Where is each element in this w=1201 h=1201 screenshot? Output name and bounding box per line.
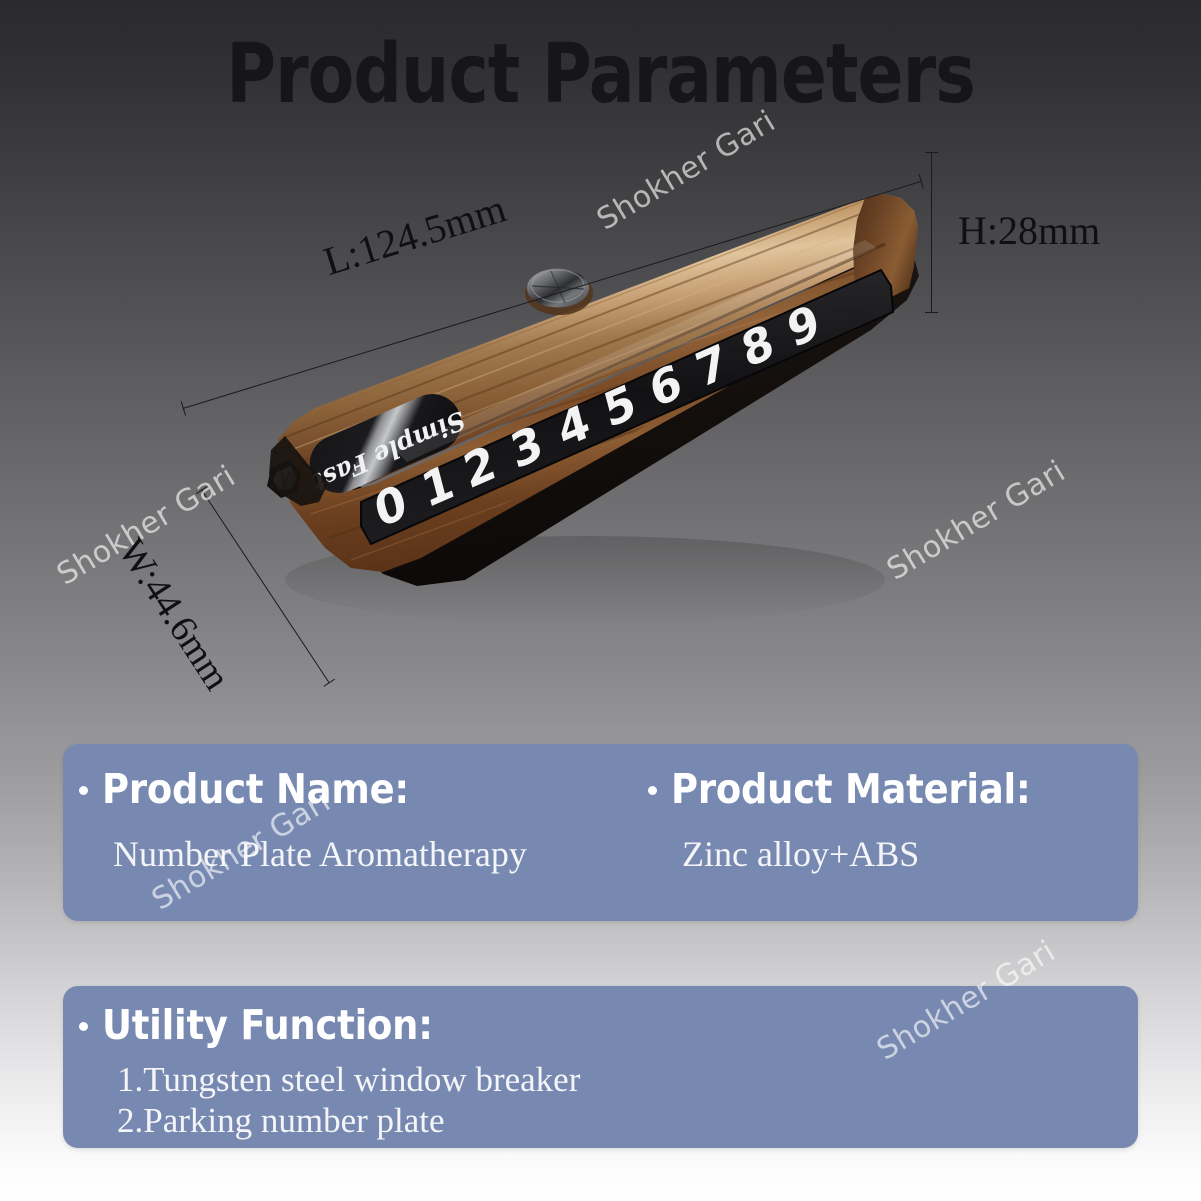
bullet-icon — [79, 1022, 88, 1031]
utility-function-heading: Utility Function: — [79, 1004, 1119, 1047]
product-illustration: 0 1 2 3 4 5 6 7 8 9 — [165, 150, 955, 640]
product-svg: 0 1 2 3 4 5 6 7 8 9 — [165, 150, 955, 640]
spec-utility-function: Utility Function: 1.Tungsten steel windo… — [79, 986, 1119, 1148]
dimension-label-height: H:28mm — [958, 207, 1100, 254]
utility-function-heading-label: Utility Function: — [102, 1004, 433, 1047]
utility-item-2: 2.Parking number plate — [117, 1100, 1119, 1141]
product-material-heading: Product Material: — [648, 768, 1128, 811]
spec-product-name: Product Name: Number Plate Aromatherapy — [79, 744, 654, 921]
infographic-stage: Product Parameters — [0, 0, 1201, 1201]
product-material-heading-label: Product Material: — [671, 768, 1031, 811]
product-name-heading-label: Product Name: — [102, 768, 409, 811]
product-material-value: Zinc alloy+ABS — [682, 833, 1128, 875]
utility-item-1: 1.Tungsten steel window breaker — [117, 1059, 1119, 1100]
bullet-icon — [79, 786, 88, 795]
spec-panel-primary: Product Name: Number Plate Aromatherapy … — [63, 744, 1138, 921]
spec-product-material: Product Material: Zinc alloy+ABS — [648, 744, 1128, 921]
product-name-value: Number Plate Aromatherapy — [113, 833, 654, 875]
utility-function-list: 1.Tungsten steel window breaker 2.Parkin… — [117, 1059, 1119, 1142]
page-title: Product Parameters — [48, 34, 1153, 116]
bullet-icon — [648, 786, 657, 795]
product-name-heading: Product Name: — [79, 768, 654, 811]
dimension-line-height — [931, 152, 933, 312]
spec-panel-utility: Utility Function: 1.Tungsten steel windo… — [63, 986, 1138, 1148]
